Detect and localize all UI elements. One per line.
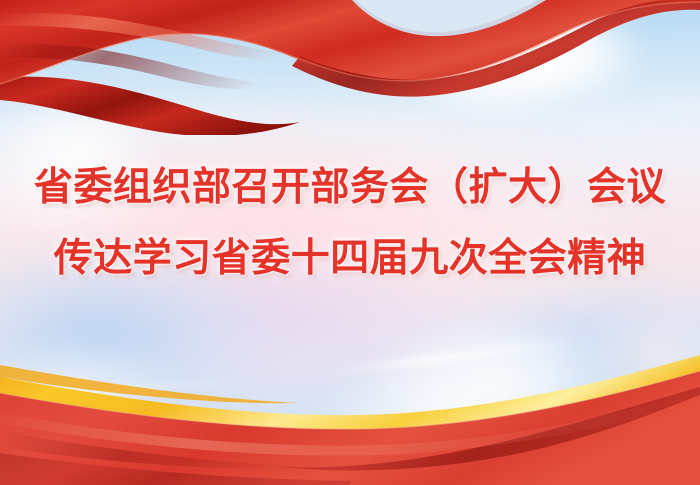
banner-title: 省委组织部召开部务会（扩大）会议 传达学习省委十四届九次全会精神 — [0, 152, 700, 294]
title-line-2: 传达学习省委十四届九次全会精神 — [0, 223, 700, 294]
bottom-red-gold-wave-decoration — [0, 335, 700, 485]
announcement-banner: 省委组织部召开部务会（扩大）会议 传达学习省委十四届九次全会精神 — [0, 0, 700, 485]
title-line-1: 省委组织部召开部务会（扩大）会议 — [0, 152, 700, 223]
top-red-ribbon-decoration — [0, 0, 700, 135]
